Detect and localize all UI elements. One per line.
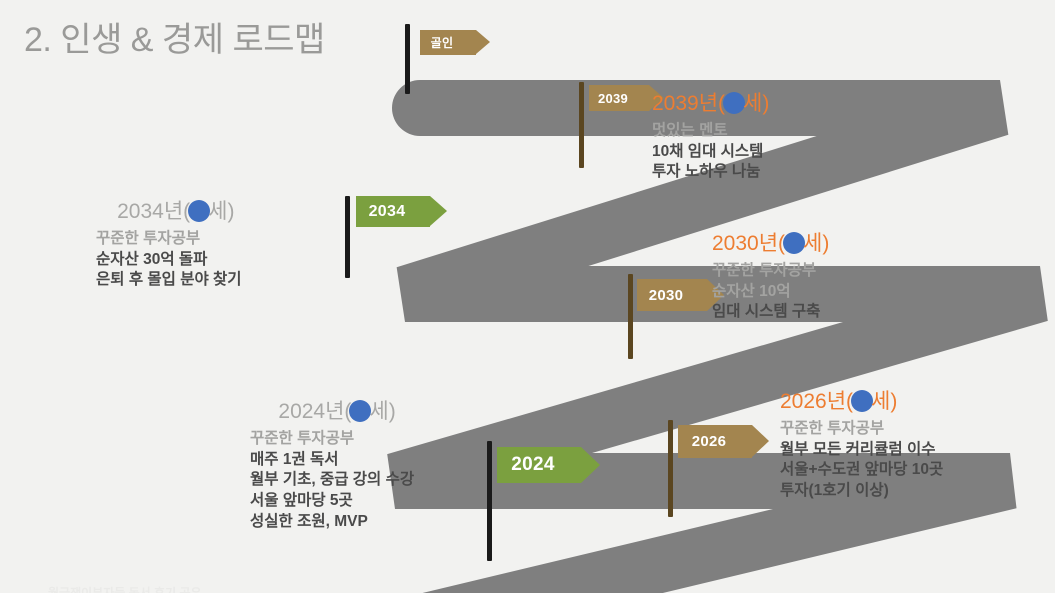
flag-banner-2039[interactable]: 2039 <box>589 85 649 111</box>
milestone-line: 서울 앞마당 5곳 <box>250 491 414 512</box>
flag-banner-2030[interactable]: 2030 <box>637 279 707 311</box>
flag-pole-2039 <box>579 82 584 168</box>
age-redaction-dot-2026 <box>851 390 873 412</box>
milestone-2024: 2024년(세) 꾸준한 투자공부 매주 1권 독서 월부 기초, 중급 강의 … <box>250 400 414 532</box>
milestone-lines-2034: 꾸준한 투자공부 순자산 30억 돌파 은퇴 후 몰입 분야 찾기 <box>96 229 242 291</box>
milestone-lines-2030: 꾸준한 투자공부 순자산 10억 임대 시스템 구축 <box>712 261 829 323</box>
milestone-line: 임대 시스템 구축 <box>712 302 829 323</box>
milestone-line: 서울+수도권 앞마당 10곳 <box>780 460 943 481</box>
milestone-line: 꾸준한 투자공부 <box>96 229 242 250</box>
milestone-heading-2034: 2034년(세) <box>96 200 242 224</box>
milestone-line: 멋있는 멘토 <box>652 121 769 142</box>
milestone-year-suffix-2039: 세) <box>743 92 769 115</box>
flag-banner-2024[interactable]: 2024 <box>497 447 581 483</box>
milestone-heading-2030: 2030년(세) <box>712 232 829 256</box>
age-redaction-dot-2034 <box>188 200 210 222</box>
milestone-line: 투자(1호기 이상) <box>780 481 943 502</box>
milestone-line: 순자산 30억 돌파 <box>96 250 242 271</box>
flag-label-2026: 2026 <box>692 433 727 450</box>
milestone-line: 순자산 10억 <box>712 282 829 303</box>
flag-pole-2030 <box>628 274 633 359</box>
milestone-line: 꾸준한 투자공부 <box>712 261 829 282</box>
milestone-year-prefix-2039: 2039년( <box>652 92 725 115</box>
milestone-heading-2039: 2039년(세) <box>652 92 769 116</box>
milestone-year-suffix-2026: 세) <box>871 390 897 413</box>
milestone-lines-2024: 꾸준한 투자공부 매주 1권 독서 월부 기초, 중급 강의 수강 서울 앞마당… <box>250 429 414 532</box>
flag-pole-2034 <box>345 196 350 278</box>
milestone-line: 매주 1권 독서 <box>250 450 414 471</box>
milestone-heading-2024: 2024년(세) <box>250 400 414 424</box>
age-redaction-dot-2030 <box>783 232 805 254</box>
flag-label-2039: 2039 <box>598 91 628 106</box>
flag-label-2034: 2034 <box>369 203 406 221</box>
milestone-lines-2039: 멋있는 멘토 10채 임대 시스템 투자 노하우 나눔 <box>652 121 769 183</box>
flag-pole-goal <box>405 24 410 94</box>
milestone-line: 꾸준한 투자공부 <box>250 429 414 450</box>
milestone-2030: 2030년(세) 꾸준한 투자공부 순자산 10억 임대 시스템 구축 <box>712 232 829 323</box>
milestone-2034: 2034년(세) 꾸준한 투자공부 순자산 30억 돌파 은퇴 후 몰입 분야 … <box>96 200 242 291</box>
milestone-line: 월부 기초, 중급 강의 수강 <box>250 470 414 491</box>
flag-banner-2034[interactable]: 2034 <box>356 196 430 227</box>
milestone-year-prefix-2034: 2034년( <box>117 200 190 223</box>
flag-label-2030: 2030 <box>649 287 684 304</box>
milestone-year-prefix-2030: 2030년( <box>712 232 785 255</box>
milestone-year-suffix-2030: 세) <box>803 232 829 255</box>
age-redaction-dot-2039 <box>723 92 745 114</box>
milestone-lines-2026: 꾸준한 투자공부 월부 모든 커리큘럼 이수 서울+수도권 앞마당 10곳 투자… <box>780 419 943 501</box>
roadmap-slide: 2. 인생 & 경제 로드맵 골인 2039 2034 2030 2026 <box>0 0 1055 593</box>
milestone-year-prefix-2026: 2026년( <box>780 390 853 413</box>
flag-banner-goal[interactable]: 골인 <box>420 30 476 55</box>
flag-label-2024: 2024 <box>511 454 554 476</box>
milestone-year-suffix-2034: 세) <box>208 200 234 223</box>
milestone-heading-2026: 2026년(세) <box>780 390 943 414</box>
road-path-graphic <box>0 0 1055 593</box>
milestone-2039: 2039년(세) 멋있는 멘토 10채 임대 시스템 투자 노하우 나눔 <box>652 92 769 183</box>
milestone-year-prefix-2024: 2024년( <box>278 400 351 423</box>
page-title: 2. 인생 & 경제 로드맵 <box>24 12 325 61</box>
flag-label-goal: 골인 <box>431 34 454 51</box>
milestone-line: 투자 노하우 나눔 <box>652 162 769 183</box>
milestone-line: 성실한 조원, MVP <box>250 512 414 533</box>
flag-pole-2024 <box>487 441 492 561</box>
milestone-line: 10채 임대 시스템 <box>652 142 769 163</box>
milestone-year-suffix-2024: 세) <box>369 400 395 423</box>
flag-pole-2026 <box>668 420 673 517</box>
milestone-2026: 2026년(세) 꾸준한 투자공부 월부 모든 커리큘럼 이수 서울+수도권 앞… <box>780 390 943 502</box>
milestone-line: 꾸준한 투자공부 <box>780 419 943 440</box>
milestone-line: 은퇴 후 몰입 분야 찾기 <box>96 270 242 291</box>
milestone-line: 월부 모든 커리큘럼 이수 <box>780 440 943 461</box>
bottom-cutoff-text: 월급쟁이부자들 독서 후기 공유 <box>48 584 202 593</box>
flag-banner-2026[interactable]: 2026 <box>678 425 752 458</box>
